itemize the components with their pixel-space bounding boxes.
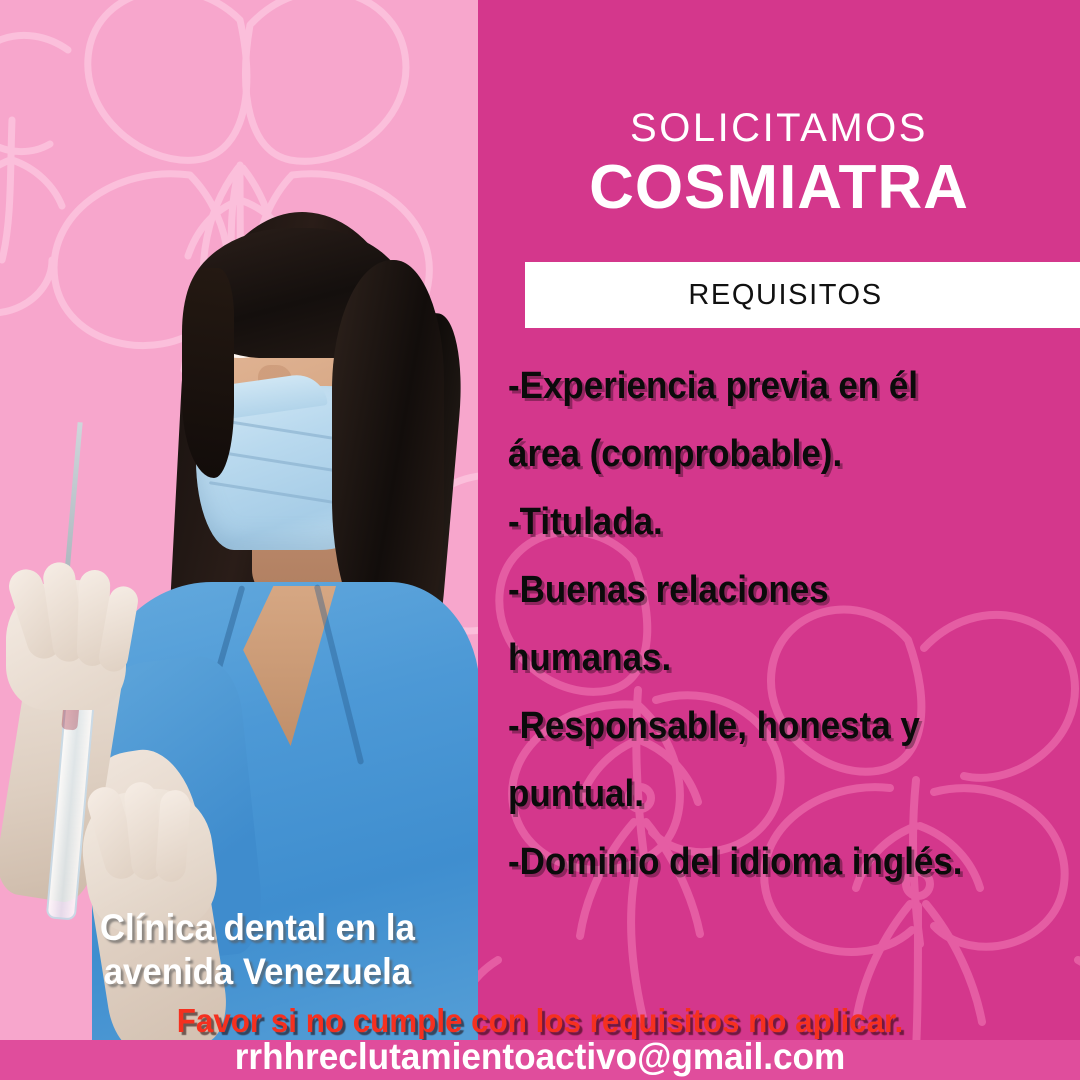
contact-email[interactable]: rrhhreclutamientoactivo@gmail.com — [27, 1036, 1053, 1078]
requirement-line: -Experiencia previa en él — [508, 352, 1034, 420]
eyebrow-heading: SOLICITAMOS — [478, 106, 1080, 151]
job-posting-poster: SOLICITAMOS COSMIATRA REQUISITOS -Experi… — [0, 0, 1080, 1080]
requirement-line: -Buenas relaciones — [508, 556, 1034, 624]
requirement-line: -Dominio del idioma inglés. — [508, 828, 1034, 896]
clinic-line-2: avenida Venezuela — [60, 950, 455, 994]
right-content-panel: SOLICITAMOS COSMIATRA REQUISITOS -Experi… — [478, 0, 1080, 1080]
requirement-line: puntual. — [508, 760, 1034, 828]
requirements-list: -Experiencia previa en él área (comproba… — [508, 352, 1080, 896]
requisitos-banner: REQUISITOS — [525, 262, 1080, 328]
page-title: COSMIATRA — [478, 152, 1080, 223]
requirement-line: área (comprobable). — [508, 420, 1034, 488]
requirement-line: -Responsable, honesta y — [508, 692, 1034, 760]
clinic-line-1: Clínica dental en la — [60, 906, 455, 950]
requirement-line: humanas. — [508, 624, 1034, 692]
requirement-line: -Titulada. — [508, 488, 1034, 556]
requisitos-label: REQUISITOS — [688, 279, 916, 312]
warning-text: Favor si no cumple con los requisitos no… — [27, 1002, 1053, 1040]
clinic-location-text: Clínica dental en la avenida Venezuela — [60, 906, 455, 994]
